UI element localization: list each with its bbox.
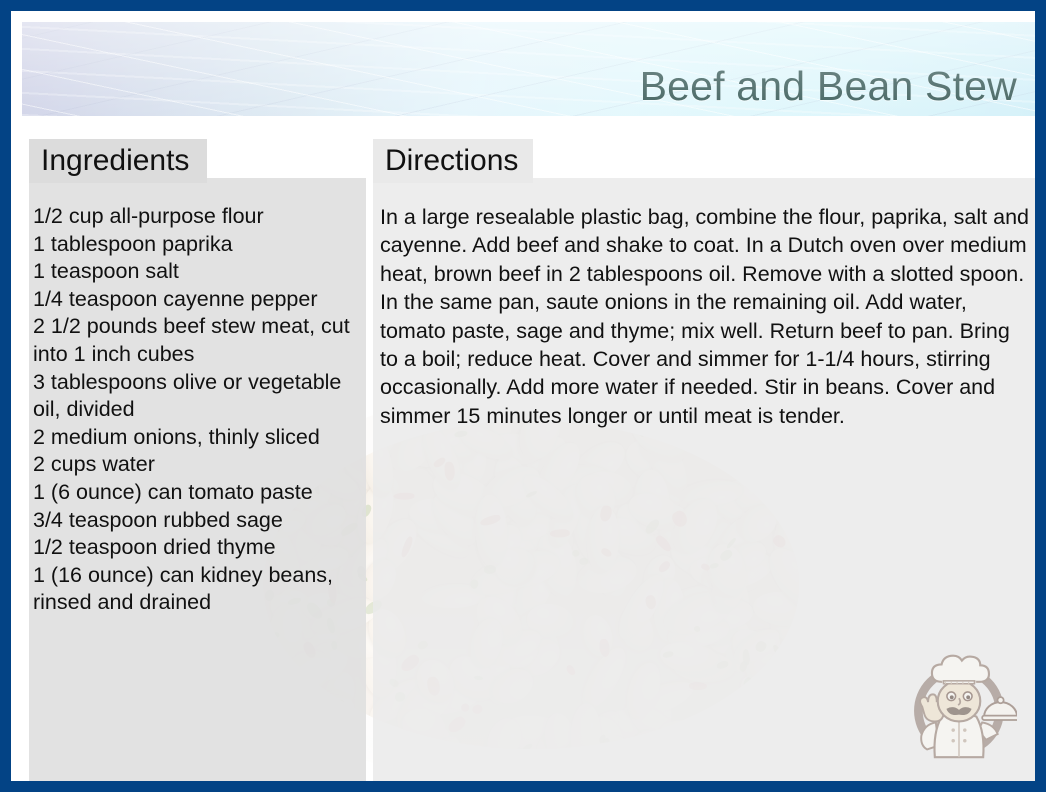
ingredient-item: 2 medium onions, thinly sliced (33, 424, 359, 452)
chef-mascot-logo (901, 647, 1017, 763)
section-heading-ingredients: Ingredients (29, 139, 207, 183)
ingredient-item: 1 (6 ounce) can tomato paste (33, 479, 359, 507)
ingredient-item: 1/4 teaspoon cayenne pepper (33, 286, 359, 314)
page-title: Beef and Bean Stew (640, 65, 1017, 108)
section-heading-directions: Directions (373, 139, 533, 183)
title-banner: Beef and Bean Stew (22, 22, 1039, 116)
serving-dome-icon (982, 697, 1017, 720)
chef-hat-icon (932, 656, 989, 685)
ingredient-item: 3/4 teaspoon rubbed sage (33, 507, 359, 535)
recipe-card: Beef and Bean Stew Ingredients 1/2 cup a… (0, 0, 1046, 792)
ingredient-item: 2 1/2 pounds beef stew meat, cut into 1 … (33, 313, 359, 368)
ingredient-item: 1 tablespoon paprika (33, 231, 359, 259)
ingredient-item: 1 (16 ounce) can kidney beans, rinsed an… (33, 562, 359, 617)
ingredient-item: 1/2 cup all-purpose flour (33, 203, 359, 231)
directions-text: In a large resealable plastic bag, combi… (380, 203, 1030, 430)
ingredient-item: 1 teaspoon salt (33, 258, 359, 286)
ingredient-item: 3 tablespoons olive or vegetable oil, di… (33, 369, 359, 424)
ingredients-list: 1/2 cup all-purpose flour1 tablespoon pa… (33, 203, 359, 617)
ingredient-item: 2 cups water (33, 451, 359, 479)
chef-body-icon (920, 656, 1017, 758)
ingredient-item: 1/2 teaspoon dried thyme (33, 534, 359, 562)
